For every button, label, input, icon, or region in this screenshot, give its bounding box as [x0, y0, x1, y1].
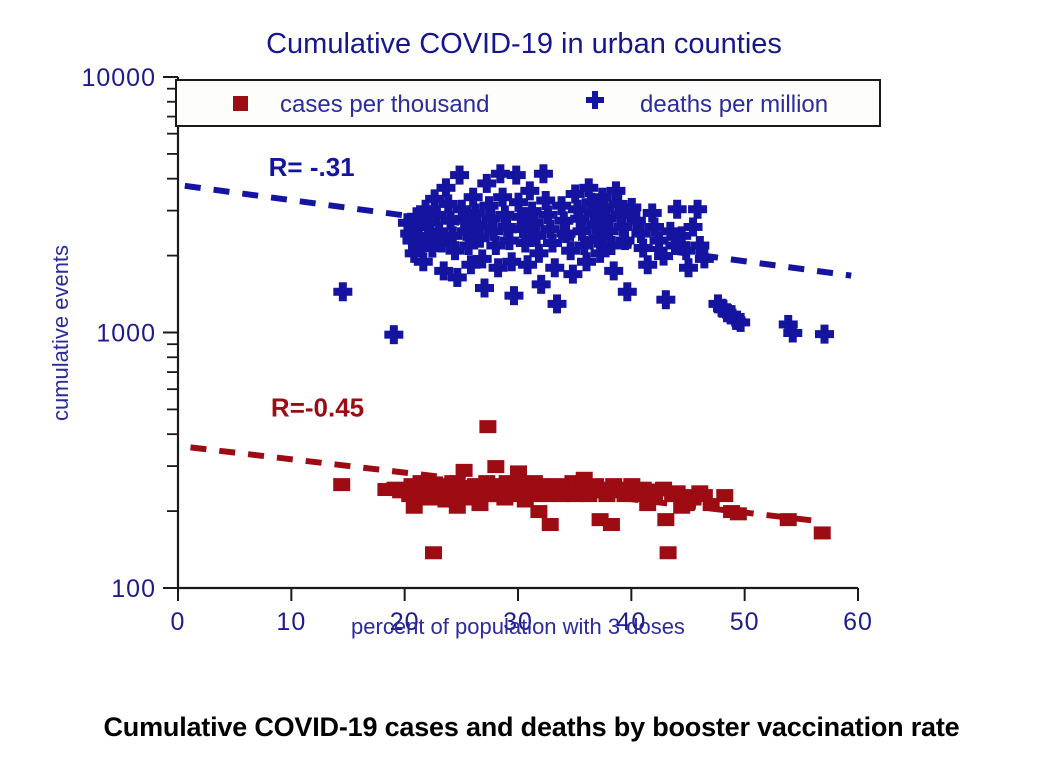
- scatter-chart: Cumulative COVID-19 in urban counties 10…: [0, 0, 1063, 700]
- data-point: [545, 258, 564, 277]
- y-tick-label: 1000: [96, 320, 156, 348]
- data-point: [548, 294, 567, 313]
- data-point: [504, 286, 523, 305]
- data-point: [563, 265, 582, 284]
- x-tick-label: 60: [843, 608, 873, 636]
- x-tick-label: 50: [730, 608, 760, 636]
- y-tick-label: 10000: [81, 64, 156, 92]
- chart-title: Cumulative COVID-19 in urban counties: [266, 28, 782, 60]
- data-point: [530, 505, 547, 518]
- data-point: [542, 518, 559, 531]
- x-tick-label: 0: [171, 608, 186, 636]
- scatter-points-cases: [333, 420, 831, 559]
- data-point: [716, 489, 733, 502]
- data-point: [450, 166, 469, 185]
- figure-caption: Cumulative COVID-19 cases and deaths by …: [0, 712, 1063, 743]
- y-tick-label: 100: [111, 575, 156, 603]
- x-axis-ticks: [178, 588, 858, 601]
- data-point: [532, 275, 551, 294]
- data-point: [618, 282, 637, 301]
- figure-container: Cumulative COVID-19 in urban counties 10…: [0, 0, 1063, 774]
- data-point: [333, 282, 352, 301]
- data-point: [384, 325, 403, 344]
- data-point: [730, 507, 747, 520]
- chart-annotations: R= -.31R=-0.45: [269, 152, 365, 422]
- data-point: [479, 420, 496, 433]
- data-point: [534, 164, 553, 183]
- annotation-deaths: R= -.31: [269, 152, 355, 182]
- annotation-cases: R=-0.45: [271, 392, 364, 422]
- data-point: [657, 513, 674, 526]
- legend-label-deaths: deaths per million: [640, 91, 828, 118]
- data-point: [780, 513, 797, 526]
- y-axis-title: cumulative events: [48, 245, 73, 421]
- data-point: [487, 460, 504, 473]
- y-axis-tick-labels: 100100010000: [81, 64, 156, 603]
- data-point: [604, 261, 623, 280]
- data-point: [425, 546, 442, 559]
- x-tick-label: 10: [276, 608, 306, 636]
- data-point: [507, 166, 526, 185]
- scatter-points-deaths: [333, 164, 834, 344]
- legend-marker-cases: [233, 96, 248, 111]
- data-point: [475, 279, 494, 298]
- data-point: [815, 325, 834, 344]
- data-point: [333, 478, 350, 491]
- data-point: [814, 526, 831, 539]
- y-axis-ticks: [163, 77, 178, 588]
- data-point: [660, 546, 677, 559]
- data-point: [510, 465, 527, 478]
- data-point: [688, 200, 707, 219]
- data-point: [456, 464, 473, 477]
- x-axis-title: percent of population with 3 doses: [351, 614, 685, 639]
- legend-label-cases: cases per thousand: [280, 91, 489, 118]
- chart-legend: cases per thousand deaths per million: [176, 80, 880, 126]
- data-point: [603, 518, 620, 531]
- data-point: [668, 200, 687, 219]
- data-point: [406, 501, 423, 514]
- data-point: [656, 290, 675, 309]
